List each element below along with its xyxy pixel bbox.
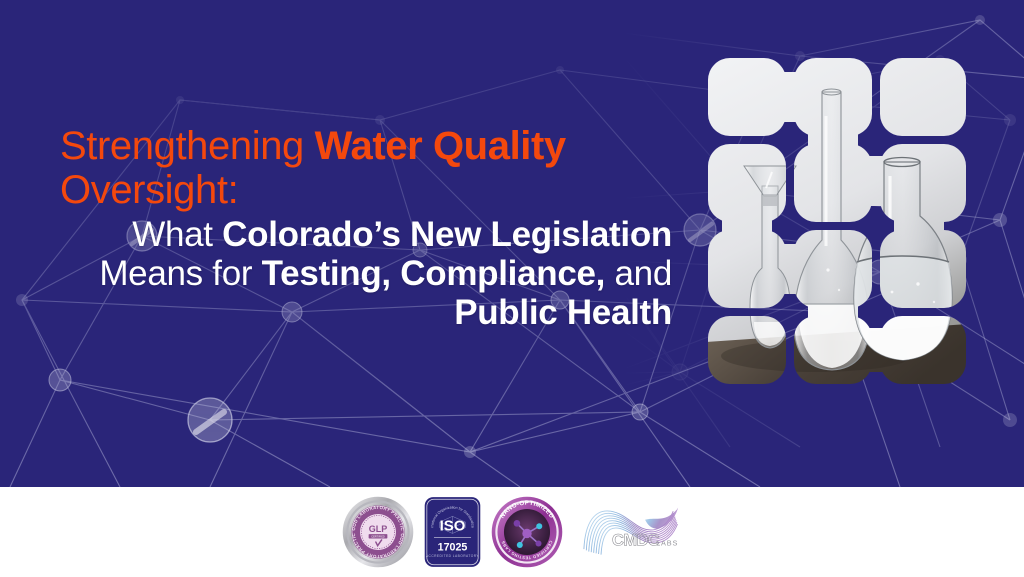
headline-line-2: Oversight:: [0, 168, 680, 212]
subhead-line1-bold: Colorado’s New Legislation: [222, 215, 672, 254]
headline-line1-bold: Water Quality: [315, 124, 566, 168]
certification-logo-row: GLP CERTIFIED GOOD LABORATORY PRACTICE G…: [0, 487, 1024, 577]
iso-wordmark: ISO: [439, 518, 465, 535]
subhead-line2-plain: Means for: [99, 254, 261, 293]
nano-optimized-badge: NANO-OPTIMIZED CERTIFIED TESTING LABS: [491, 496, 563, 568]
subhead-line-1: What Colorado’s New Legislation: [0, 215, 680, 254]
iso-standard-number: 17025: [437, 542, 467, 554]
wave-fill-icon: [645, 508, 678, 529]
subhead-line-3: Public Health: [0, 293, 680, 332]
headline-line2-plain: Oversight:: [60, 168, 238, 212]
lab-glassware-image: [706, 56, 968, 386]
footer-bar: GLP CERTIFIED GOOD LABORATORY PRACTICE G…: [0, 487, 1024, 577]
glp-certified-badge: GLP CERTIFIED GOOD LABORATORY PRACTICE G…: [342, 496, 414, 568]
iso-caption: ACCREDITED LABORATORY: [425, 554, 478, 558]
glp-center-text: GLP: [368, 524, 387, 534]
cmdc-wordmark: CMDC: [612, 531, 660, 549]
headline-line-1: Strengthening Water Quality: [0, 124, 680, 168]
slide-root: Strengthening Water Quality Oversight: W…: [0, 0, 1024, 577]
subhead-line1-plain: What: [132, 215, 222, 254]
subhead-line2-tail: and: [605, 254, 672, 293]
hero-panel: Strengthening Water Quality Oversight: W…: [0, 0, 1024, 487]
headline-line1-plain: Strengthening: [60, 124, 315, 168]
cmdc-labs-logo: CMDC LABS: [579, 501, 683, 563]
glp-certified-label: CERTIFIED: [371, 534, 385, 538]
subhead-line-2: Means for Testing, Compliance, and: [0, 254, 680, 293]
subhead-line2-bold: Testing, Compliance,: [262, 254, 605, 293]
iso-17025-badge: International Organization for Standardi…: [424, 496, 481, 568]
headline-block: Strengthening Water Quality Oversight: W…: [0, 124, 680, 332]
cmdc-labs-suffix: LABS: [656, 538, 678, 547]
subhead-line3-bold: Public Health: [454, 293, 672, 332]
